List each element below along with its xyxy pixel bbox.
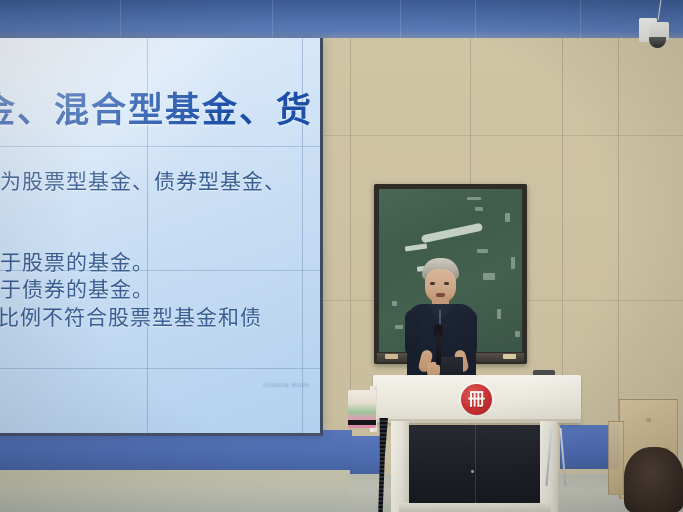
upper-wall-band (0, 0, 683, 40)
right-arm (462, 310, 477, 356)
slide-line-2: 资于股票的基金。 (0, 247, 154, 277)
laptop-on-podium (441, 357, 463, 377)
floor-left (0, 470, 350, 512)
camera-dome-lens (649, 37, 666, 48)
slide-line-3: 资于债券的基金。 (0, 274, 154, 304)
projection-screen: 金、混合型基金、货 分为股票型基金、债券型基金、 资于股票的基金。 资于债券的基… (0, 38, 323, 436)
eraser (503, 354, 516, 359)
emblem-glyph: 冊 (468, 391, 485, 408)
bag-strap (348, 420, 376, 425)
lectern-base (399, 503, 551, 512)
wall-seam-horizontal (320, 135, 683, 136)
left-arm (405, 310, 420, 356)
chair (546, 428, 568, 490)
slide-line-1: 分为股票型基金、债券型基金、 (0, 166, 286, 196)
slide-title: 金、混合型基金、货 (0, 82, 313, 133)
screen-glare (0, 38, 287, 236)
cardboard-box-small (608, 421, 624, 495)
school-emblem: 冊 (461, 384, 492, 415)
eraser (385, 354, 398, 359)
lectern-top: 冊 (373, 375, 581, 423)
face (425, 269, 456, 303)
lectern-front-panel (409, 425, 540, 505)
slide-watermark: Shadow Mode (263, 383, 310, 389)
slide-line-4: 的比例不符合股票型基金和债 (0, 302, 262, 332)
audience-head (624, 447, 683, 512)
lecture-hall-photo: 金、混合型基金、货 分为股票型基金、债券型基金、 资于股票的基金。 资于债券的基… (0, 0, 683, 512)
dome-security-camera (637, 6, 671, 52)
lectern-leg-left (391, 421, 409, 512)
